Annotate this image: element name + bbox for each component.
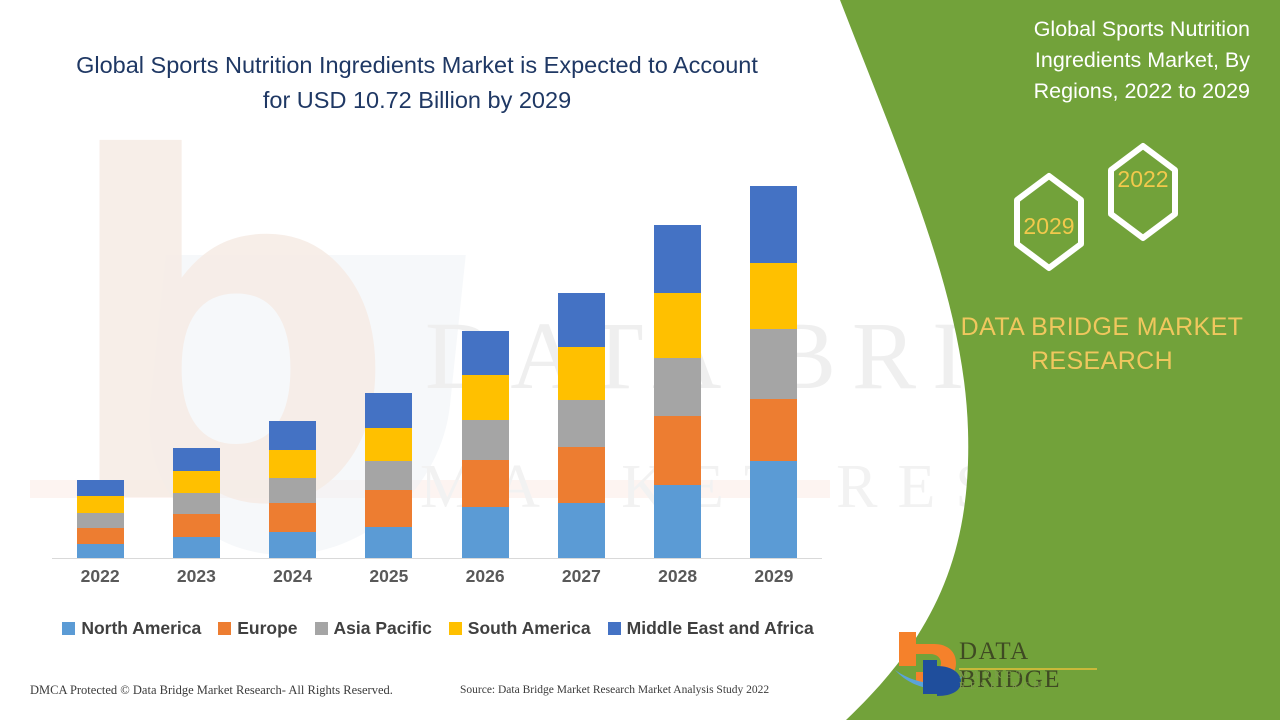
x-axis-label: 2024 [245,566,341,594]
bar-segment [269,421,316,450]
bar-segment [173,448,220,471]
bar-segment [365,393,412,428]
panel-title: Global Sports Nutrition Ingredients Mark… [960,14,1250,107]
stacked-bar [462,331,509,558]
bar-segment [365,490,412,527]
x-axis-label: 2022 [52,566,148,594]
bar-column [52,150,148,558]
hexagon-2022-label: 2022 [1103,166,1183,193]
bar-segment [462,507,509,558]
bar-segment [750,329,797,399]
bar-segment [77,528,124,544]
legend-item[interactable]: Europe [218,618,297,639]
bar-segment [77,544,124,558]
bar-segment [654,358,701,416]
legend-label: Asia Pacific [334,618,432,639]
bar-segment [365,428,412,461]
bar-column [437,150,533,558]
stacked-bar [365,393,412,558]
bar-segment [750,399,797,461]
bar-segment [558,293,605,347]
bar-segment [269,503,316,532]
stacked-bar [558,293,605,558]
bar-segment [750,186,797,263]
stacked-bar [269,421,316,558]
bar-segment [173,471,220,493]
hexagon-badges: 2022 2029 [995,138,1185,273]
bar-segment [77,496,124,513]
stacked-bar [750,186,797,558]
bar-column [341,150,437,558]
x-axis-line [52,558,822,559]
logo-tagline: MARKET RESEARCH [959,670,1103,692]
bar-segment [173,514,220,537]
legend-item[interactable]: Middle East and Africa [608,618,814,639]
footer-copyright: DMCA Protected © Data Bridge Market Rese… [30,683,393,698]
legend-label: North America [81,618,201,639]
bar-segment [462,375,509,420]
bar-segment [365,461,412,490]
data-bridge-logo: DATA BRIDGE MARKET RESEARCH [893,630,1103,696]
bar-segment [269,450,316,478]
bar-column [533,150,629,558]
stacked-bar-chart [52,150,822,558]
bar-segment [173,493,220,514]
bar-segment [558,447,605,503]
bar-segment [173,537,220,558]
footer-source: Source: Data Bridge Market Research Mark… [460,684,769,696]
bar-segment [365,527,412,558]
x-axis-label: 2026 [437,566,533,594]
legend-label: Middle East and Africa [627,618,814,639]
bar-segment [269,478,316,503]
legend-label: Europe [237,618,297,639]
stacked-bar [654,225,701,558]
bar-segment [750,461,797,558]
bar-segment [750,263,797,329]
x-axis-label: 2028 [630,566,726,594]
legend-label: South America [468,618,591,639]
brand-name: DATA BRIDGE MARKET RESEARCH [952,310,1252,378]
bar-segment [462,420,509,460]
bar-column [630,150,726,558]
bar-segment [654,293,701,358]
bar-segment [654,416,701,485]
x-axis-labels: 20222023202420252026202720282029 [52,566,822,594]
legend-swatch-icon [218,622,231,635]
stacked-bar [77,480,124,558]
legend-swatch-icon [62,622,75,635]
chart-title: Global Sports Nutrition Ingredients Mark… [60,48,774,118]
hexagon-2029-label: 2029 [1009,213,1089,240]
x-axis-label: 2027 [533,566,629,594]
bar-segment [77,513,124,528]
bar-segment [462,460,509,507]
bar-segment [558,347,605,400]
bar-segment [462,331,509,375]
x-axis-label: 2025 [341,566,437,594]
bar-segment [269,532,316,558]
x-axis-label: 2029 [726,566,822,594]
logo-b-mark [895,632,965,696]
legend-item[interactable]: Asia Pacific [315,618,432,639]
bar-segment [558,503,605,558]
stacked-bar [173,448,220,558]
chart-legend: North AmericaEuropeAsia PacificSouth Ame… [52,614,824,642]
bar-segment [654,485,701,558]
legend-swatch-icon [315,622,328,635]
bar-column [245,150,341,558]
x-axis-label: 2023 [148,566,244,594]
bar-segment [558,400,605,447]
legend-swatch-icon [449,622,462,635]
bar-column [148,150,244,558]
bar-segment [77,480,124,496]
bar-segment [654,225,701,293]
legend-item[interactable]: North America [62,618,201,639]
bar-column [726,150,822,558]
legend-item[interactable]: South America [449,618,591,639]
legend-swatch-icon [608,622,621,635]
